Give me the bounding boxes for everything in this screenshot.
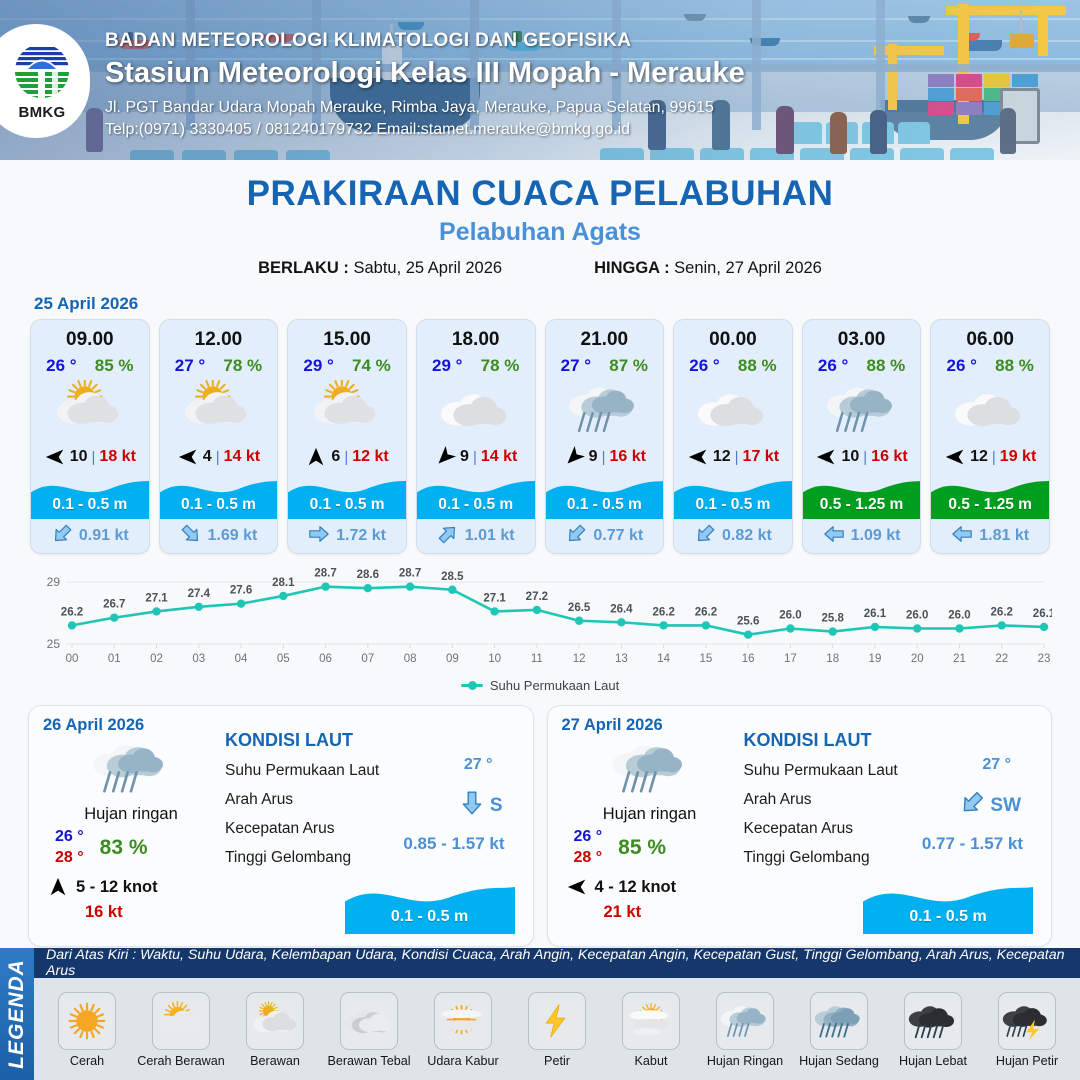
current-direction-arrow-icon — [51, 523, 73, 550]
card-temperature: 29 ° — [432, 356, 462, 376]
current-direction-arrow-icon — [823, 523, 845, 550]
station-name: Stasiun Meteorologi Kelas III Mopah - Me… — [105, 57, 745, 90]
card-humidity: 87 % — [609, 356, 648, 376]
wind-direction-arrow-icon — [815, 446, 837, 468]
card-wave-height: 0.5 - 1.25 m — [803, 496, 921, 514]
wind-direction-arrow-icon — [944, 446, 966, 468]
sea-condition-title: KONDISI LAUT — [744, 730, 1040, 751]
daily-left: 27 April 2026 Hujan ringan 26 ° 28 ° 85 … — [562, 716, 738, 938]
page-header: BMKG BADAN METEOROLOGI KLIMATOLOGI DAN G… — [0, 0, 1080, 160]
valid-from: BERLAKU : Sabtu, 25 April 2026 — [258, 259, 502, 278]
card-time: 00.00 — [674, 320, 792, 351]
card-current-speed: 0.77 kt — [593, 527, 643, 545]
daily-wind: 5 - 12 knot — [43, 876, 219, 898]
svg-text:03: 03 — [192, 653, 205, 665]
svg-text:28.6: 28.6 — [357, 569, 379, 581]
svg-text:25: 25 — [47, 637, 61, 651]
header-text-block: BADAN METEOROLOGI KLIMATOLOGI DAN GEOFIS… — [105, 30, 745, 139]
card-humidity: 88 % — [867, 356, 906, 376]
card-gust: 14 kt — [224, 448, 260, 466]
svg-text:28.1: 28.1 — [272, 577, 295, 589]
wind-direction-arrow-icon — [177, 446, 199, 468]
card-wave-band: 0.5 - 1.25 m — [931, 473, 1049, 519]
page-title: PRAKIRAAN CUACA PELABUHAN — [0, 174, 1080, 214]
wind-direction-arrow-icon — [44, 446, 66, 468]
valid-until-label: HINGGA : — [594, 259, 669, 277]
card-wave-height: 0.1 - 0.5 m — [417, 496, 535, 514]
legend-side-bar: LEGENDA — [0, 948, 34, 1080]
daily-wave-height: 0.1 - 0.5 m — [863, 908, 1033, 926]
current-direction-arrow-icon — [308, 523, 330, 550]
light-rain-icon — [716, 992, 774, 1050]
current-direction-arrow-icon — [180, 523, 202, 550]
daily-right: KONDISI LAUT Suhu Permukaan Laut Arah Ar… — [219, 716, 521, 938]
card-wind: 4 | 14 kt — [160, 442, 278, 472]
card-temperature: 29 ° — [303, 356, 333, 376]
title-block: PRAKIRAAN CUACA PELABUHAN Pelabuhan Agat… — [0, 160, 1080, 278]
card-wind: 10 | 16 kt — [803, 442, 921, 472]
card-time: 18.00 — [417, 320, 535, 351]
card-wind: 6 | 12 kt — [288, 442, 406, 472]
legend-item-label: Petir — [544, 1054, 570, 1068]
svg-text:06: 06 — [319, 653, 332, 665]
wind-direction-arrow-icon — [47, 876, 69, 898]
current-direction-value: SW — [990, 795, 1021, 817]
legend-item: Kabut — [604, 992, 698, 1068]
partly-cloudy-icon — [160, 378, 278, 440]
daily-condition: Hujan ringan — [43, 805, 219, 824]
legend-item: Berawan — [228, 992, 322, 1068]
card-wind-speed: 12 — [970, 448, 988, 466]
card-gust: 18 kt — [99, 448, 135, 466]
daily-summary-row: 26 April 2026 Hujan ringan 26 ° 28 ° 83 … — [0, 693, 1080, 947]
card-wind-speed: 9 — [589, 448, 598, 466]
card-wave-height: 0.1 - 0.5 m — [160, 496, 278, 514]
daily-humidity: 85 % — [618, 836, 666, 860]
legend-item: Petir — [510, 992, 604, 1068]
svg-text:22: 22 — [995, 653, 1008, 665]
moderate-rain-icon — [810, 992, 868, 1050]
svg-text:27.2: 27.2 — [526, 591, 548, 603]
lightning-icon — [528, 992, 586, 1050]
card-temp-humidity: 29 ° 74 % — [288, 356, 406, 376]
legend-item-label: Kabut — [635, 1054, 668, 1068]
card-gust: 17 kt — [743, 448, 779, 466]
current-direction-arrow-icon — [694, 523, 716, 550]
wind-direction-arrow-icon — [687, 446, 709, 468]
current-direction-arrow-icon — [437, 523, 459, 550]
arrow-down-icon — [459, 790, 485, 821]
card-wind: 12 | 19 kt — [931, 442, 1049, 472]
valid-until-value: Senin, 27 April 2026 — [674, 259, 822, 277]
legend-item-label: Cerah — [70, 1054, 104, 1068]
card-time: 06.00 — [931, 320, 1049, 351]
legend-side-title: LEGENDA — [5, 959, 29, 1069]
card-current: 0.82 kt — [674, 519, 792, 553]
daily-temp-col: 26 ° 28 ° — [55, 828, 84, 867]
forecast-card: 00.00 26 ° 88 % 12 | 17 kt 0.1 - 0.5 m — [673, 319, 793, 554]
svg-text:26.2: 26.2 — [652, 606, 674, 618]
svg-text:26.0: 26.0 — [948, 610, 970, 622]
cloud-thick-icon — [340, 992, 398, 1050]
svg-text:09: 09 — [446, 653, 459, 665]
card-temp-humidity: 26 ° 88 % — [674, 356, 792, 376]
card-humidity: 88 % — [995, 356, 1034, 376]
card-humidity: 78 % — [223, 356, 262, 376]
svg-text:14: 14 — [657, 653, 670, 665]
card-wave-height: 0.1 - 0.5 m — [31, 496, 149, 514]
legend-area: LEGENDA Dari Atas Kiri : Waktu, Suhu Uda… — [0, 948, 1080, 1080]
svg-text:11: 11 — [531, 653, 543, 665]
svg-text:07: 07 — [361, 653, 374, 665]
svg-text:26.1: 26.1 — [1033, 608, 1052, 620]
legend-item: Cerah — [40, 992, 134, 1068]
card-separator: | — [992, 449, 996, 466]
light-rain-icon — [546, 378, 664, 440]
card-time: 09.00 — [31, 320, 149, 351]
daily-humidity: 83 % — [100, 836, 148, 860]
legend-item: Berawan Tebal — [322, 992, 416, 1068]
forecast-card: 03.00 26 ° 88 % 10 | 16 kt 0.5 - 1.25 m — [802, 319, 922, 554]
arrow-down-left-icon — [959, 790, 985, 821]
forecast-date-label: 25 April 2026 — [34, 294, 1080, 314]
card-gust: 12 kt — [352, 448, 388, 466]
card-current-speed: 1.69 kt — [208, 527, 258, 545]
card-gust: 14 kt — [481, 448, 517, 466]
daily-current-direction: SW — [959, 790, 1021, 821]
valid-from-label: BERLAKU : — [258, 259, 349, 277]
partly-cloudy-icon — [288, 378, 406, 440]
svg-text:23: 23 — [1038, 653, 1051, 665]
daily-wind-range: 5 - 12 knot — [76, 878, 158, 897]
card-time: 03.00 — [803, 320, 921, 351]
validity-row: BERLAKU : Sabtu, 25 April 2026 HINGGA : … — [0, 259, 1080, 278]
card-wind: 9 | 14 kt — [417, 442, 535, 472]
sun-icon — [58, 992, 116, 1050]
daily-temp-max: 28 ° — [55, 849, 84, 867]
svg-text:20: 20 — [911, 653, 924, 665]
heavy-rain-icon — [904, 992, 962, 1050]
card-wave-height: 0.1 - 0.5 m — [288, 496, 406, 514]
svg-text:27.4: 27.4 — [188, 588, 211, 600]
legend-item-label: Hujan Ringan — [707, 1054, 783, 1068]
legend-item-label: Berawan Tebal — [327, 1054, 410, 1068]
current-direction-arrow-icon — [565, 523, 587, 550]
cloud-sun-small-icon — [246, 992, 304, 1050]
fog-icon — [622, 992, 680, 1050]
svg-text:26.1: 26.1 — [864, 608, 887, 620]
svg-text:12: 12 — [573, 653, 586, 665]
daily-wave-height: 0.1 - 0.5 m — [345, 908, 515, 926]
card-wind: 9 | 16 kt — [546, 442, 664, 472]
card-time: 21.00 — [546, 320, 664, 351]
daily-right: KONDISI LAUT Suhu Permukaan Laut Arah Ar… — [738, 716, 1040, 938]
forecast-card-row: 09.00 26 ° 85 % 10 | 18 kt 0.1 - 0.5 m — [0, 319, 1080, 554]
sun-cloud-icon — [152, 992, 210, 1050]
svg-text:26.5: 26.5 — [568, 602, 591, 614]
legend-item: Cerah Berawan — [134, 992, 228, 1068]
daily-temp-col: 26 ° 28 ° — [574, 828, 603, 867]
current-speed-value: 0.85 - 1.57 kt — [403, 834, 504, 854]
light-rain-icon — [43, 737, 219, 799]
card-temperature: 27 ° — [175, 356, 205, 376]
legend-item-label: Hujan Lebat — [899, 1054, 967, 1068]
cloudy-icon — [931, 378, 1049, 440]
svg-text:28.5: 28.5 — [441, 571, 464, 583]
svg-text:28.7: 28.7 — [399, 568, 421, 580]
card-wind-speed: 10 — [841, 448, 859, 466]
sst-value: 27 ° — [982, 756, 1011, 774]
card-separator: | — [863, 449, 867, 466]
card-humidity: 78 % — [481, 356, 520, 376]
valid-from-value: Sabtu, 25 April 2026 — [353, 259, 502, 277]
sst-value: 27 ° — [464, 756, 493, 774]
svg-text:19: 19 — [869, 653, 882, 665]
thunderstorm-icon — [998, 992, 1056, 1050]
card-wind-speed: 12 — [713, 448, 731, 466]
svg-text:17: 17 — [784, 653, 797, 665]
card-wind-speed: 10 — [70, 448, 88, 466]
card-current: 1.09 kt — [803, 519, 921, 553]
cloudy-icon — [417, 378, 535, 440]
svg-text:02: 02 — [150, 653, 163, 665]
daily-date: 27 April 2026 — [562, 716, 738, 735]
page-subtitle: Pelabuhan Agats — [0, 218, 1080, 247]
svg-text:18: 18 — [826, 653, 839, 665]
card-humidity: 85 % — [95, 356, 134, 376]
chart-legend-marker — [461, 684, 483, 687]
card-time: 15.00 — [288, 320, 406, 351]
svg-text:05: 05 — [277, 653, 290, 665]
card-wave-band: 0.1 - 0.5 m — [160, 473, 278, 519]
card-gust: 16 kt — [609, 448, 645, 466]
legend-caption: Dari Atas Kiri : Waktu, Suhu Udara, Kele… — [34, 948, 1080, 978]
card-temperature: 26 ° — [689, 356, 719, 376]
svg-text:26.0: 26.0 — [906, 610, 928, 622]
svg-text:29: 29 — [47, 575, 61, 589]
legend-main: Dari Atas Kiri : Waktu, Suhu Udara, Kele… — [34, 948, 1080, 1080]
card-temperature: 26 ° — [818, 356, 848, 376]
forecast-card: 12.00 27 ° 78 % 4 | 14 kt 0.1 - 0.5 m — [159, 319, 279, 554]
chart-legend-label: Suhu Permukaan Laut — [490, 678, 619, 693]
station-address: Jl. PGT Bandar Udara Mopah Merauke, Rimb… — [105, 99, 745, 117]
daily-date: 26 April 2026 — [43, 716, 219, 735]
svg-text:27.1: 27.1 — [483, 592, 506, 604]
card-current: 1.72 kt — [288, 519, 406, 553]
card-current: 0.91 kt — [31, 519, 149, 553]
card-current: 1.01 kt — [417, 519, 535, 553]
card-time: 12.00 — [160, 320, 278, 351]
legend-item: Hujan Ringan — [698, 992, 792, 1068]
svg-text:27.6: 27.6 — [230, 585, 252, 597]
svg-text:27.1: 27.1 — [145, 592, 168, 604]
legend-item-label: Hujan Petir — [996, 1054, 1058, 1068]
card-current-speed: 1.01 kt — [465, 527, 515, 545]
forecast-card: 06.00 26 ° 88 % 12 | 19 kt 0.5 - 1.25 m — [930, 319, 1050, 554]
card-wind: 10 | 18 kt — [31, 442, 149, 472]
daily-temps: 26 ° 28 ° 83 % — [43, 828, 219, 867]
svg-text:25.8: 25.8 — [822, 613, 845, 625]
current-speed-value: 0.77 - 1.57 kt — [922, 834, 1023, 854]
daily-gust: 16 kt — [43, 903, 219, 922]
card-temperature: 26 ° — [946, 356, 976, 376]
card-wave-band: 0.5 - 1.25 m — [803, 473, 921, 519]
card-wave-band: 0.1 - 0.5 m — [546, 473, 664, 519]
svg-text:04: 04 — [235, 653, 248, 665]
daily-temp-min: 26 ° — [55, 828, 84, 846]
daily-wave-band: 0.1 - 0.5 m — [345, 878, 515, 934]
svg-text:00: 00 — [66, 653, 79, 665]
daily-condition: Hujan ringan — [562, 805, 738, 824]
daily-summary-panel: 26 April 2026 Hujan ringan 26 ° 28 ° 83 … — [28, 705, 534, 947]
svg-text:15: 15 — [700, 653, 713, 665]
card-wind-speed: 9 — [460, 448, 469, 466]
card-gust: 16 kt — [871, 448, 907, 466]
legend-item: Hujan Lebat — [886, 992, 980, 1068]
wind-direction-arrow-icon — [305, 446, 327, 468]
card-wave-band: 0.1 - 0.5 m — [288, 473, 406, 519]
forecast-card: 21.00 27 ° 87 % 9 | 16 kt 0.1 - 0.5 m — [545, 319, 665, 554]
agency-name: BADAN METEOROLOGI KLIMATOLOGI DAN GEOFIS… — [105, 30, 745, 52]
wind-direction-arrow-icon — [434, 446, 456, 468]
daily-gust: 21 kt — [562, 903, 738, 922]
card-separator: | — [473, 449, 477, 466]
light-rain-icon — [803, 378, 921, 440]
legend-item-label: Cerah Berawan — [137, 1054, 225, 1068]
svg-text:26.7: 26.7 — [103, 599, 125, 611]
daily-left: 26 April 2026 Hujan ringan 26 ° 28 ° 83 … — [43, 716, 219, 938]
card-gust: 19 kt — [1000, 448, 1036, 466]
bmkg-logo-text: BMKG — [18, 104, 65, 121]
light-rain-icon — [562, 737, 738, 799]
legend-item-label: Hujan Sedang — [799, 1054, 879, 1068]
forecast-card: 18.00 29 ° 78 % 9 | 14 kt 0.1 - 0.5 m — [416, 319, 536, 554]
svg-text:26.0: 26.0 — [779, 610, 801, 622]
svg-text:26.4: 26.4 — [610, 603, 633, 615]
card-separator: | — [344, 449, 348, 466]
legend-item: Udara Kabur — [416, 992, 510, 1068]
legend-item-label: Udara Kabur — [427, 1054, 498, 1068]
card-wind: 12 | 17 kt — [674, 442, 792, 472]
svg-text:21: 21 — [953, 653, 966, 665]
card-separator: | — [216, 449, 220, 466]
card-temperature: 27 ° — [561, 356, 591, 376]
bmkg-logo-mark — [12, 42, 72, 102]
legend-item: Hujan Sedang — [792, 992, 886, 1068]
daily-summary-panel: 27 April 2026 Hujan ringan 26 ° 28 ° 85 … — [547, 705, 1053, 947]
partly-cloudy-icon — [31, 378, 149, 440]
card-temp-humidity: 27 ° 87 % — [546, 356, 664, 376]
card-wind-speed: 4 — [203, 448, 212, 466]
svg-text:26.2: 26.2 — [61, 606, 83, 618]
daily-temps: 26 ° 28 ° 85 % — [562, 828, 738, 867]
card-wind-speed: 6 — [331, 448, 340, 466]
daily-wind-range: 4 - 12 knot — [595, 878, 677, 897]
valid-until: HINGGA : Senin, 27 April 2026 — [594, 259, 822, 278]
svg-text:01: 01 — [108, 653, 121, 665]
daily-wave-band: 0.1 - 0.5 m — [863, 878, 1033, 934]
card-wave-height: 0.1 - 0.5 m — [546, 496, 664, 514]
card-current-speed: 1.72 kt — [336, 527, 386, 545]
card-temp-humidity: 27 ° 78 % — [160, 356, 278, 376]
sst-chart: 252926.226.727.127.427.628.128.728.628.7… — [28, 564, 1052, 676]
card-separator: | — [602, 449, 606, 466]
card-wave-band: 0.1 - 0.5 m — [674, 473, 792, 519]
haze-icon — [434, 992, 492, 1050]
svg-text:13: 13 — [615, 653, 628, 665]
svg-text:26.2: 26.2 — [695, 606, 717, 618]
daily-temp-max: 28 ° — [574, 849, 603, 867]
legend-item-label: Berawan — [250, 1054, 300, 1068]
card-current-speed: 0.82 kt — [722, 527, 772, 545]
daily-temp-min: 26 ° — [574, 828, 603, 846]
card-temp-humidity: 26 ° 88 % — [803, 356, 921, 376]
card-wave-band: 0.1 - 0.5 m — [417, 473, 535, 519]
wind-direction-arrow-icon — [563, 446, 585, 468]
card-separator: | — [92, 449, 96, 466]
legend-item: Hujan Petir — [980, 992, 1074, 1068]
daily-wind: 4 - 12 knot — [562, 876, 738, 898]
card-current: 1.69 kt — [160, 519, 278, 553]
svg-text:25.6: 25.6 — [737, 616, 759, 628]
card-wave-height: 0.1 - 0.5 m — [674, 496, 792, 514]
card-temp-humidity: 29 ° 78 % — [417, 356, 535, 376]
current-direction-arrow-icon — [951, 523, 973, 550]
svg-text:26.2: 26.2 — [991, 606, 1013, 618]
station-contact: Telp:(0971) 3330405 / 081240179732 Email… — [105, 121, 745, 139]
current-direction-value: S — [490, 795, 503, 817]
svg-text:08: 08 — [404, 653, 417, 665]
card-wave-height: 0.5 - 1.25 m — [931, 496, 1049, 514]
chart-legend: Suhu Permukaan Laut — [0, 678, 1080, 693]
card-current: 1.81 kt — [931, 519, 1049, 553]
card-current-speed: 0.91 kt — [79, 527, 129, 545]
sea-condition-title: KONDISI LAUT — [225, 730, 521, 751]
card-wave-band: 0.1 - 0.5 m — [31, 473, 149, 519]
forecast-card: 15.00 29 ° 74 % 6 | 12 kt 0.1 - 0.5 m — [287, 319, 407, 554]
forecast-card: 09.00 26 ° 85 % 10 | 18 kt 0.1 - 0.5 m — [30, 319, 150, 554]
card-current: 0.77 kt — [546, 519, 664, 553]
wind-direction-arrow-icon — [566, 876, 588, 898]
card-temperature: 26 ° — [46, 356, 76, 376]
svg-text:16: 16 — [742, 653, 755, 665]
card-temp-humidity: 26 ° 88 % — [931, 356, 1049, 376]
card-humidity: 88 % — [738, 356, 777, 376]
card-temp-humidity: 26 ° 85 % — [31, 356, 149, 376]
cloudy-icon — [674, 378, 792, 440]
svg-text:28.7: 28.7 — [314, 568, 336, 580]
daily-current-direction: S — [459, 790, 503, 821]
legend-item-list: Cerah Cerah Berawan Berawan — [34, 978, 1080, 1080]
svg-text:10: 10 — [488, 653, 501, 665]
card-humidity: 74 % — [352, 356, 391, 376]
card-separator: | — [735, 449, 739, 466]
card-current-speed: 1.09 kt — [851, 527, 901, 545]
card-current-speed: 1.81 kt — [979, 527, 1029, 545]
